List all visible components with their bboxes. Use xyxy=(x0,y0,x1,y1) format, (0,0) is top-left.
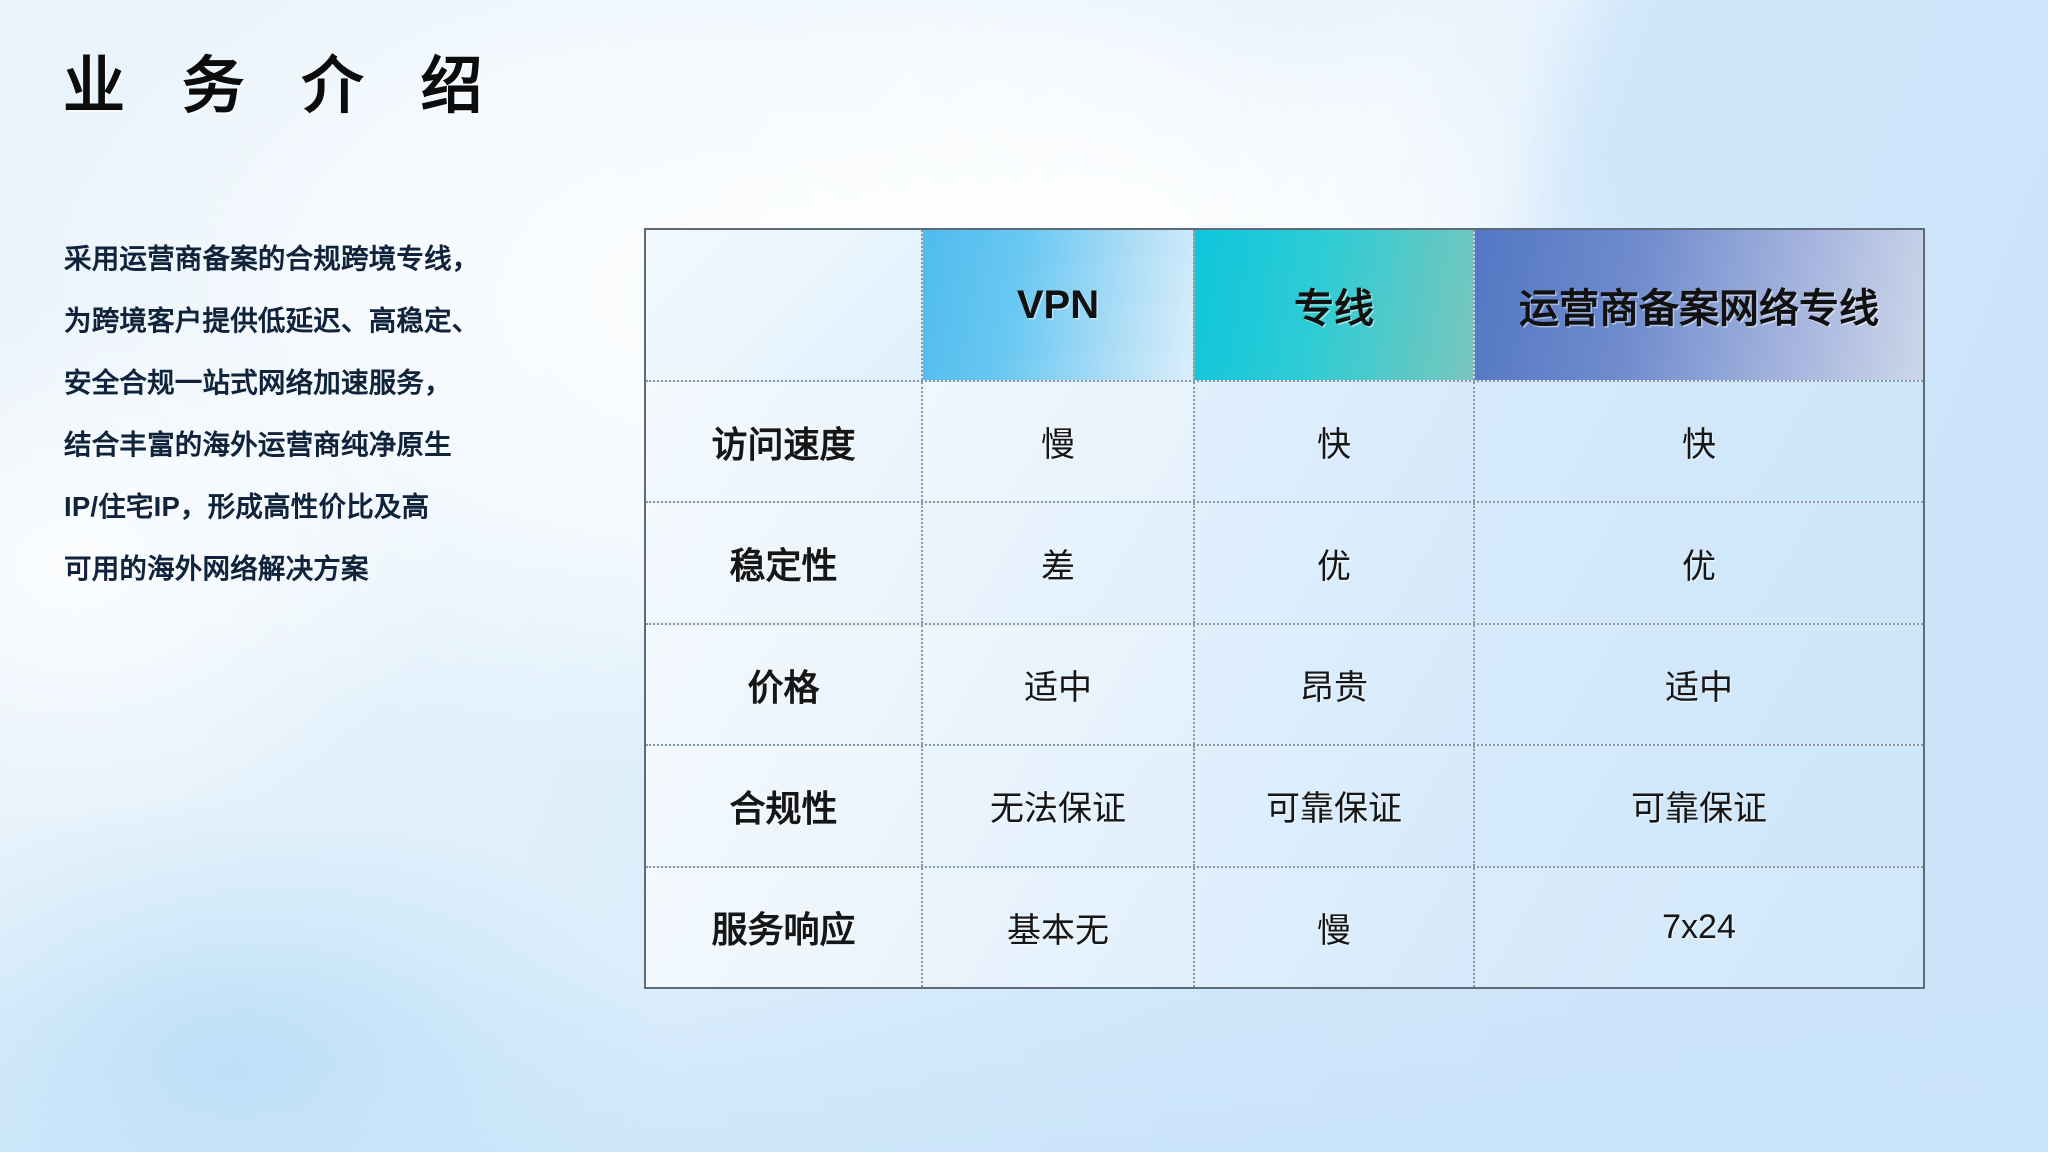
table-header-vpn: VPN xyxy=(921,230,1193,380)
cell-vpn: 基本无 xyxy=(921,868,1193,987)
cell-dedicated: 可靠保证 xyxy=(1193,746,1473,865)
row-label: 稳定性 xyxy=(646,503,921,622)
intro-line: 结合丰富的海外运营商纯净原生 xyxy=(64,414,624,476)
table-row: 稳定性 差 优 优 xyxy=(646,501,1923,622)
comparison-table: VPN 专线 运营商备案网络专线 访问速度 慢 快 快 稳定性 差 优 优 价格… xyxy=(644,228,1925,989)
cell-vpn: 差 xyxy=(921,503,1193,622)
table-row: 价格 适中 昂贵 适中 xyxy=(646,623,1923,744)
intro-paragraph: 采用运营商备案的合规跨境专线， 为跨境客户提供低延迟、高稳定、 安全合规一站式网… xyxy=(64,228,624,600)
cell-vpn: 无法保证 xyxy=(921,746,1193,865)
table-header-dedicated-line: 专线 xyxy=(1193,230,1473,380)
cell-dedicated: 快 xyxy=(1193,382,1473,501)
table-header-blank xyxy=(646,230,921,380)
intro-line: 为跨境客户提供低延迟、高稳定、 xyxy=(64,290,624,352)
intro-line: 采用运营商备案的合规跨境专线， xyxy=(64,228,624,290)
intro-line: IP/住宅IP，形成高性价比及高 xyxy=(64,476,624,538)
table-row: 服务响应 基本无 慢 7x24 xyxy=(646,866,1923,987)
cell-dedicated: 优 xyxy=(1193,503,1473,622)
row-label: 访问速度 xyxy=(646,382,921,501)
cell-dedicated: 慢 xyxy=(1193,868,1473,987)
cell-carrier: 可靠保证 xyxy=(1473,746,1923,865)
intro-line: 可用的海外网络解决方案 xyxy=(64,538,624,600)
cell-carrier: 7x24 xyxy=(1473,868,1923,987)
cell-dedicated: 昂贵 xyxy=(1193,625,1473,744)
slide-content: 业 务 介 绍 采用运营商备案的合规跨境专线， 为跨境客户提供低延迟、高稳定、 … xyxy=(0,0,2048,1152)
cell-vpn: 适中 xyxy=(921,625,1193,744)
cell-vpn: 慢 xyxy=(921,382,1193,501)
intro-line: 安全合规一站式网络加速服务， xyxy=(64,352,624,414)
table-header-carrier-filed-line: 运营商备案网络专线 xyxy=(1473,230,1923,380)
cell-carrier: 适中 xyxy=(1473,625,1923,744)
cell-carrier: 优 xyxy=(1473,503,1923,622)
page-title: 业 务 介 绍 xyxy=(63,56,503,118)
table-row: 访问速度 慢 快 快 xyxy=(646,380,1923,501)
table-header-row: VPN 专线 运营商备案网络专线 xyxy=(646,230,1923,380)
cell-carrier: 快 xyxy=(1473,382,1923,501)
row-label: 合规性 xyxy=(646,746,921,865)
row-label: 服务响应 xyxy=(646,868,921,987)
table-row: 合规性 无法保证 可靠保证 可靠保证 xyxy=(646,744,1923,865)
row-label: 价格 xyxy=(646,625,921,744)
